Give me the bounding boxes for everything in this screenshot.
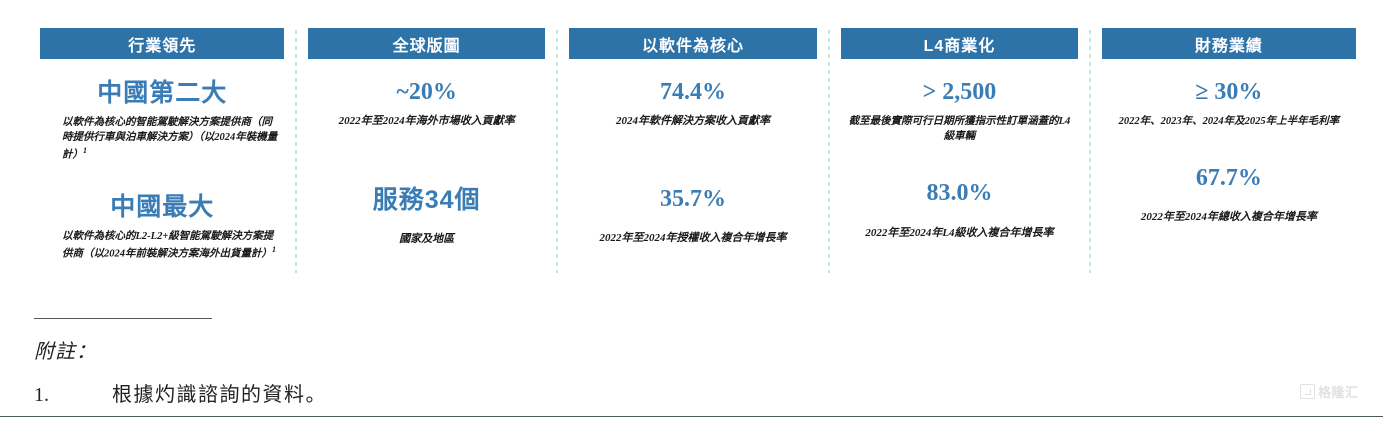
- column-header: 行業領先: [40, 28, 284, 59]
- column-divider: [817, 28, 841, 273]
- stat-value: 服務34個: [314, 186, 538, 215]
- stat-label: 2022年至2024年海外市場收入貢獻率: [314, 114, 538, 130]
- column-header: 財務業績: [1102, 28, 1356, 59]
- stat-label: 截至最後實際可行日期所獲指示性訂單涵蓋的L4級車輛: [847, 114, 1071, 144]
- stat-block: 67.7% 2022年至2024年總收入複合年增長率: [1102, 165, 1356, 227]
- note-text: 根據灼識諮詢的資料。: [112, 378, 327, 407]
- stat-label: 2022年至2024年L4級收入複合年增長率: [847, 226, 1071, 242]
- note-number: 1.: [34, 384, 112, 407]
- stat-label: 2024年軟件解決方案收入貢獻率: [575, 114, 811, 130]
- column-divider: [1078, 28, 1102, 273]
- stat-label: 以軟件為核心的L2-L2+級智能駕駛解決方案提供商（以2024年前裝解決方案海外…: [46, 229, 278, 262]
- stat-value: 中國第二大: [46, 79, 278, 108]
- divider-line: [1089, 30, 1091, 273]
- notes-separator-rule: [34, 318, 212, 319]
- highlight-column-software-core: 以軟件為核心 74.4% 2024年軟件解決方案收入貢獻率 35.7% 2022…: [569, 28, 817, 273]
- stat-value: 中國最大: [46, 193, 278, 222]
- watermark-text: 格隆汇: [1318, 382, 1359, 401]
- stat-value: 74.4%: [575, 79, 811, 107]
- divider-line: [556, 30, 558, 273]
- stat-block: 83.0% 2022年至2024年L4級收入複合年增長率: [841, 180, 1077, 242]
- notes-title: 附註：: [34, 335, 1334, 364]
- note-item: 1. 根據灼識諮詢的資料。: [34, 378, 1334, 407]
- page-bottom-rule: [0, 416, 1383, 417]
- stat-value: 67.7%: [1108, 165, 1350, 193]
- stat-block: 35.7% 2022年至2024年授權收入複合年增長率: [569, 186, 817, 248]
- stat-value: ≥ 30%: [1108, 79, 1350, 107]
- column-body: 74.4% 2024年軟件解決方案收入貢獻率 35.7% 2022年至2024年…: [569, 59, 817, 273]
- stat-label-text: 以軟件為核心的L2-L2+級智能駕駛解決方案提供商（以2024年前裝解決方案海外…: [62, 231, 273, 260]
- column-header: L4商業化: [841, 28, 1077, 59]
- stat-block: > 2,500 截至最後實際可行日期所獲指示性訂單涵蓋的L4級車輛: [841, 79, 1077, 144]
- stat-block: ≥ 30% 2022年、2023年、2024年及2025年上半年毛利率: [1102, 79, 1356, 129]
- stat-label: 2022年至2024年授權收入複合年增長率: [575, 231, 811, 247]
- stat-label: 國家及地區: [314, 232, 538, 248]
- stat-label: 2022年至2024年總收入複合年增長率: [1108, 210, 1350, 226]
- stat-label: 以軟件為核心的智能駕駛解決方案提供商（同時提供行車與泊車解決方案）（以2024年…: [46, 115, 278, 163]
- column-divider: [545, 28, 569, 273]
- stat-value: 83.0%: [847, 180, 1071, 208]
- stat-block: 74.4% 2024年軟件解決方案收入貢獻率: [569, 79, 817, 130]
- stat-value: > 2,500: [847, 79, 1071, 107]
- stat-label-text: 以軟件為核心的智能駕駛解決方案提供商（同時提供行車與泊車解決方案）（以2024年…: [62, 117, 277, 161]
- divider-line: [295, 30, 297, 273]
- highlight-column-industry-leadership: 行業領先 中國第二大 以軟件為核心的智能駕駛解決方案提供商（同時提供行車與泊車解…: [40, 28, 284, 273]
- column-body: ~20% 2022年至2024年海外市場收入貢獻率 服務34個 國家及地區: [308, 59, 544, 273]
- stat-block: ~20% 2022年至2024年海外市場收入貢獻率: [308, 79, 544, 130]
- column-divider: [284, 28, 308, 273]
- column-body: ≥ 30% 2022年、2023年、2024年及2025年上半年毛利率 67.7…: [1102, 59, 1356, 273]
- stat-block: 服務34個 國家及地區: [308, 186, 544, 249]
- highlight-column-financial-performance: 財務業績 ≥ 30% 2022年、2023年、2024年及2025年上半年毛利率…: [1102, 28, 1356, 273]
- column-header: 全球版圖: [308, 28, 544, 59]
- column-header: 以軟件為核心: [569, 28, 817, 59]
- stat-block: 中國第二大 以軟件為核心的智能駕駛解決方案提供商（同時提供行車與泊車解決方案）（…: [40, 79, 284, 163]
- highlight-column-l4-commercialization: L4商業化 > 2,500 截至最後實際可行日期所獲指示性訂單涵蓋的L4級車輛 …: [841, 28, 1077, 273]
- footnote-marker: 1: [272, 245, 276, 254]
- column-body: > 2,500 截至最後實際可行日期所獲指示性訂單涵蓋的L4級車輛 83.0% …: [841, 59, 1077, 273]
- stat-label: 2022年、2023年、2024年及2025年上半年毛利率: [1108, 114, 1350, 129]
- highlights-strip: 行業領先 中國第二大 以軟件為核心的智能駕駛解決方案提供商（同時提供行車與泊車解…: [40, 28, 1356, 273]
- gelonghui-logo-icon: [1300, 384, 1315, 399]
- column-body: 中國第二大 以軟件為核心的智能駕駛解決方案提供商（同時提供行車與泊車解決方案）（…: [40, 59, 284, 273]
- watermark: 格隆汇: [1300, 382, 1359, 401]
- stat-value: ~20%: [314, 79, 538, 107]
- notes-section: 附註： 1. 根據灼識諮詢的資料。: [34, 318, 1334, 407]
- stat-value: 35.7%: [575, 186, 811, 214]
- footnote-marker: 1: [83, 146, 87, 155]
- highlight-column-global-footprint: 全球版圖 ~20% 2022年至2024年海外市場收入貢獻率 服務34個 國家及…: [308, 28, 544, 273]
- divider-line: [828, 30, 830, 273]
- stat-block: 中國最大 以軟件為核心的L2-L2+級智能駕駛解決方案提供商（以2024年前裝解…: [40, 193, 284, 262]
